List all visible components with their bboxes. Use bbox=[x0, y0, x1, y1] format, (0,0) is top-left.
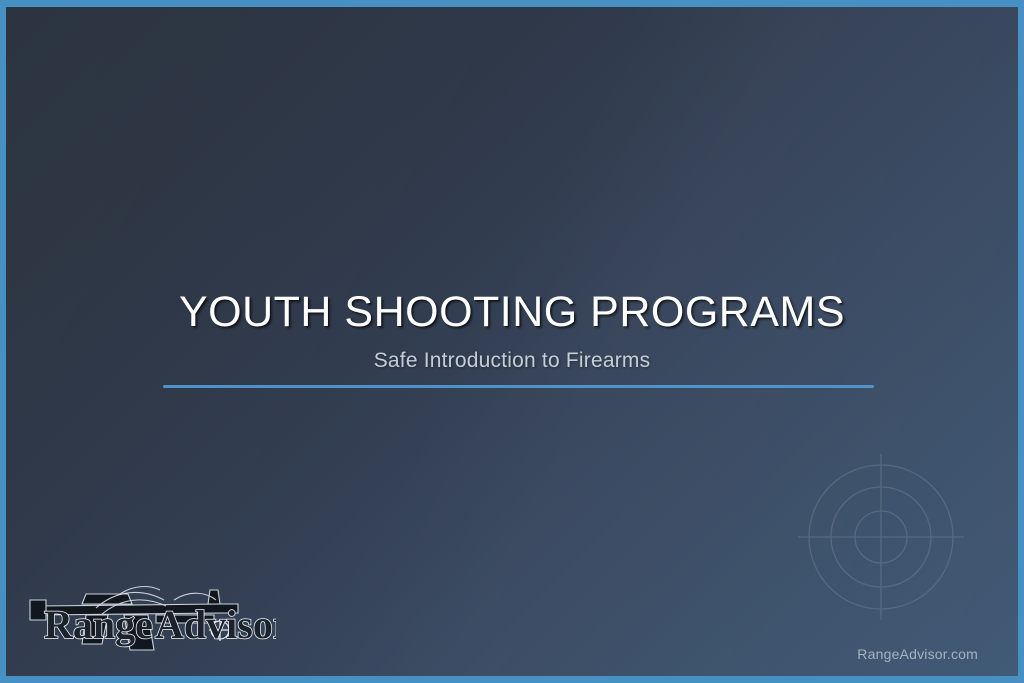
page-title: YOUTH SHOOTING PROGRAMS bbox=[6, 290, 1018, 336]
title-block: YOUTH SHOOTING PROGRAMS Safe Introductio… bbox=[6, 290, 1018, 373]
slide-frame: YOUTH SHOOTING PROGRAMS Safe Introductio… bbox=[0, 0, 1024, 683]
title-divider bbox=[163, 385, 874, 388]
target-crosshair-icon bbox=[796, 452, 966, 622]
logo-wordmark-advisor: Advisor bbox=[155, 602, 276, 647]
rangeadvisor-logo: Range Advisor bbox=[24, 570, 276, 658]
footer-url: RangeAdvisor.com bbox=[857, 646, 978, 662]
page-subtitle: Safe Introduction to Firearms bbox=[6, 349, 1018, 373]
slide-canvas: YOUTH SHOOTING PROGRAMS Safe Introductio… bbox=[6, 7, 1018, 676]
logo-wordmark-range: Range bbox=[44, 602, 153, 647]
